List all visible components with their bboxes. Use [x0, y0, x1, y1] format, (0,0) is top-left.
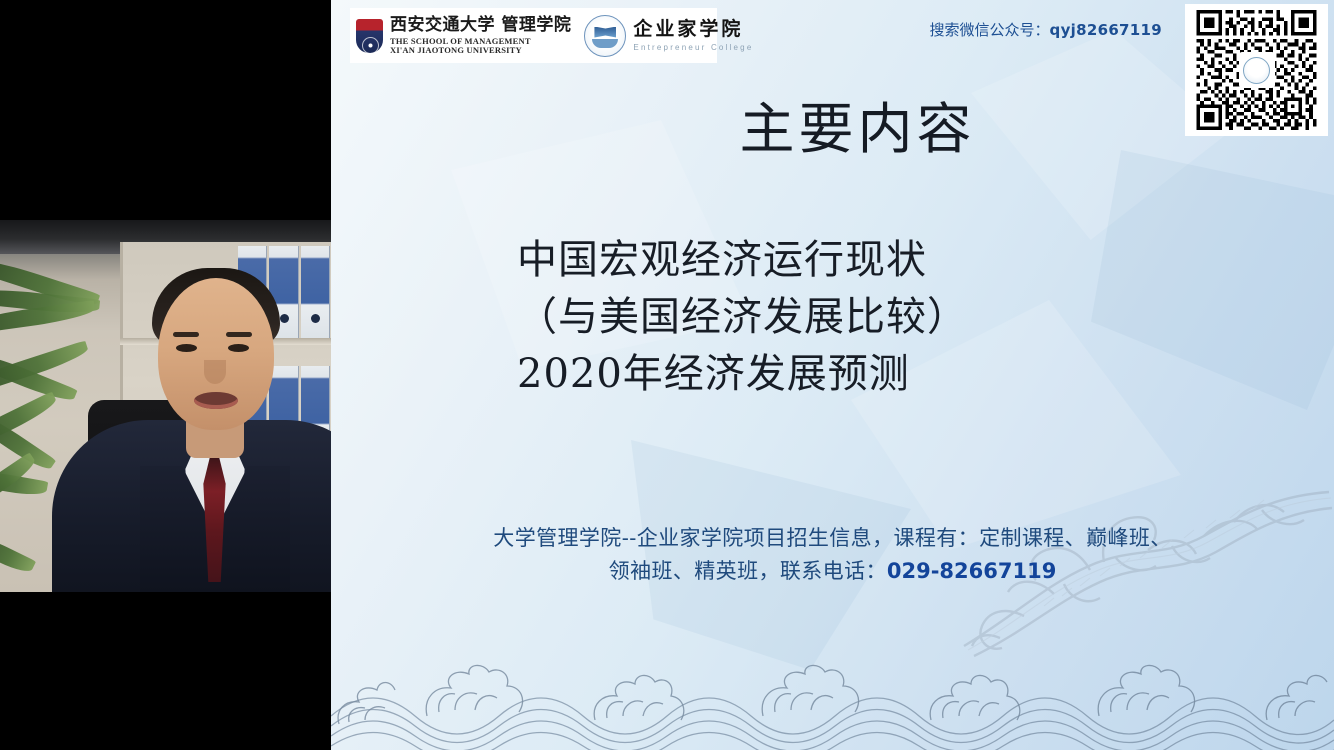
slide-body: 中国宏观经济运行现状 （与美国经济发展比较） 2020年经济发展预测: [517, 232, 968, 402]
eyebrow-right: [226, 332, 252, 337]
institution-logo-bar: 西安交通大学 管理学院 THE SCHOOL OF MANAGEMENT XI'…: [350, 8, 717, 63]
wechat-account-line: 搜索微信公众号：qyj82667119: [930, 19, 1162, 40]
qr-brand-logo-icon: [1243, 57, 1270, 84]
bg-facet: [1091, 150, 1334, 410]
screen-root: 西安交通大学 管理学院 THE SCHOOL OF MANAGEMENT XI'…: [0, 0, 1334, 750]
promo-line-2: 领袖班、精英班，联系电话：029-82667119: [331, 555, 1334, 588]
slide-body-line-3: 2020年经济发展预测: [517, 346, 968, 403]
eye-right: [228, 344, 249, 352]
qr-center-badge: [1239, 52, 1275, 88]
slide-body-line-1: 中国宏观经济运行现状: [517, 232, 968, 289]
presenter-video-pane[interactable]: [0, 0, 331, 750]
wechat-prefix-label: 搜索微信公众号：: [930, 21, 1050, 39]
school-name-en-line1: THE SCHOOL OF MANAGEMENT: [390, 36, 531, 46]
promo-line-1: 大学管理学院--企业家学院项目招生信息，课程有：定制课程、巅峰班、: [331, 522, 1334, 555]
promo-banner: 大学管理学院--企业家学院项目招生信息，课程有：定制课程、巅峰班、 领袖班、精英…: [331, 522, 1334, 587]
presenter-figure: [0, 220, 331, 592]
school-name-cn: 西安交通大学 管理学院: [390, 17, 571, 34]
eyebrow-left: [173, 332, 199, 337]
university-crest-icon: [356, 19, 383, 53]
entrepreneur-college-seal-icon: [584, 15, 626, 57]
slide-pane: 西安交通大学 管理学院 THE SCHOOL OF MANAGEMENT XI'…: [331, 0, 1334, 750]
slide-body-line-2: （与美国经济发展比较）: [517, 289, 968, 346]
school-name-block: 西安交通大学 管理学院 THE SCHOOL OF MANAGEMENT XI'…: [390, 17, 571, 55]
college-name-block: 企业家学院 Entrepreneur College: [633, 20, 753, 52]
college-name-en: Entrepreneur College: [633, 44, 753, 52]
school-name-en: THE SCHOOL OF MANAGEMENT XI'AN JIAOTONG …: [390, 37, 571, 55]
eye-left: [176, 344, 197, 352]
chinese-wave-pattern-icon: [331, 620, 1334, 750]
wechat-account-id: qyj82667119: [1050, 21, 1162, 39]
presenter-video-frame[interactable]: [0, 220, 331, 592]
college-name-cn: 企业家学院: [633, 20, 753, 39]
promo-line-2-prefix: 领袖班、精英班，联系电话：: [609, 559, 887, 583]
mouth: [194, 392, 238, 409]
contact-phone-number: 029-82667119: [887, 559, 1056, 583]
slide-title: 主要内容: [331, 84, 1334, 164]
letterbox-bottom: [0, 592, 331, 750]
school-name-en-line2: XI'AN JIAOTONG UNIVERSITY: [390, 46, 571, 55]
nose: [204, 360, 226, 384]
